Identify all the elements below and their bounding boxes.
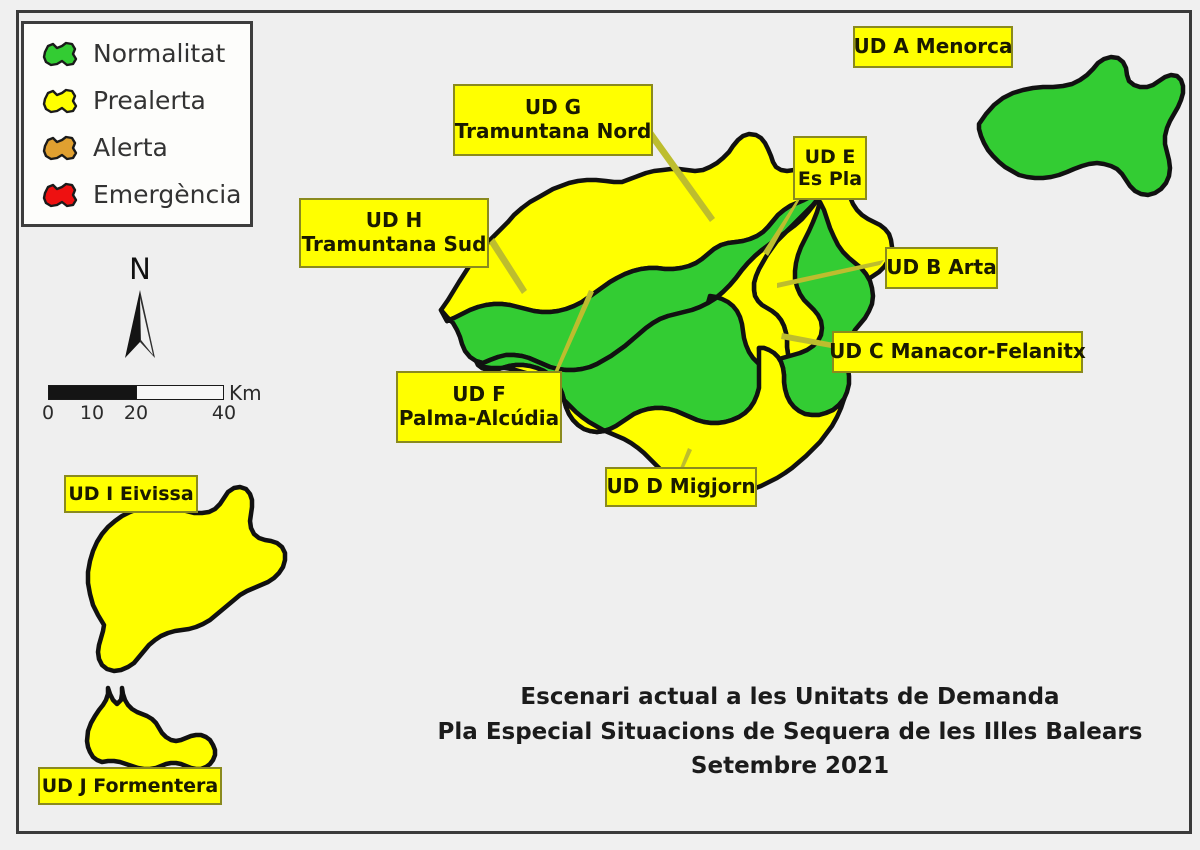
callout-ud-h-line1: UD H [366, 209, 423, 233]
north-arrow: N [95, 252, 185, 367]
polygon-swatch-icon [40, 41, 80, 67]
legend-panel: Normalitat Prealerta Alerta Emergència [21, 21, 253, 227]
callout-ud-b-line1: UD B Arta [886, 256, 996, 280]
polygon-swatch-icon [40, 135, 80, 161]
callout-ud-d-migjorn[interactable]: UD D Migjorn [605, 467, 757, 507]
callout-ud-c-manacor-felanitx[interactable]: UD C Manacor-Felanitx [832, 331, 1083, 373]
scale-tick-0: 0 [42, 402, 54, 424]
island-menorca [979, 57, 1183, 195]
callout-ud-e-line2: Es Pla [798, 168, 862, 190]
callout-ud-g-line2: Tramuntana Nord [455, 120, 652, 144]
legend-label-normalitat: Normalitat [93, 39, 225, 68]
callout-ud-f-line1: UD F [452, 383, 505, 407]
legend-label-prealerta: Prealerta [93, 86, 206, 115]
legend-item-prealerta: Prealerta [24, 77, 250, 124]
north-arrow-icon [95, 286, 185, 366]
title-block: Escenari actual a les Unitats de Demanda… [430, 680, 1150, 784]
scale-tick-10: 10 [80, 402, 104, 424]
callout-ud-a-menorca[interactable]: UD A Menorca [853, 26, 1013, 68]
region-ud-a-menorca [979, 57, 1183, 195]
callout-ud-b-arta[interactable]: UD B Arta [885, 247, 998, 289]
callout-ud-d-line1: UD D Migjorn [606, 475, 755, 499]
region-ud-j-formentera [87, 688, 215, 769]
legend-label-alerta: Alerta [93, 133, 168, 162]
scale-tick-20: 20 [124, 402, 148, 424]
scale-bar-ticks: 0 10 20 40 [48, 402, 224, 426]
callout-ud-a-line1: UD A Menorca [854, 35, 1013, 59]
island-formentera [87, 688, 215, 769]
scale-bar: Km 0 10 20 40 [48, 385, 263, 430]
island-eivissa [88, 487, 285, 671]
callout-ud-j-line1: UD J Formentera [42, 775, 219, 797]
title-line-1: Escenari actual a les Unitats de Demanda [430, 680, 1150, 715]
callout-ud-f-line2: Palma-Alcúdia [399, 407, 559, 431]
callout-ud-e-es-pla[interactable]: UD E Es Pla [793, 136, 867, 200]
region-ud-i-eivissa [88, 487, 285, 671]
scale-bar-segment-empty [136, 386, 223, 399]
callout-ud-i-line1: UD I Eivissa [68, 483, 193, 505]
callout-ud-g-line1: UD G [525, 96, 581, 120]
north-letter: N [95, 252, 185, 286]
scale-bar-track [48, 385, 224, 400]
callout-ud-f-palma-alcudia[interactable]: UD F Palma-Alcúdia [396, 371, 562, 443]
legend-item-alerta: Alerta [24, 124, 250, 171]
scale-tick-40: 40 [212, 402, 236, 424]
polygon-swatch-icon [40, 182, 80, 208]
callout-ud-i-eivissa[interactable]: UD I Eivissa [64, 475, 198, 513]
callout-ud-j-formentera[interactable]: UD J Formentera [38, 767, 222, 805]
scale-bar-segment-filled [49, 386, 136, 399]
map-poster: Normalitat Prealerta Alerta Emergència N [0, 0, 1200, 850]
title-line-3: Setembre 2021 [430, 749, 1150, 784]
legend-label-emergencia: Emergència [93, 180, 241, 209]
legend-item-normalitat: Normalitat [24, 30, 250, 77]
callout-ud-h-line2: Tramuntana Sud [302, 233, 487, 257]
callout-ud-g-tramuntana-nord[interactable]: UD G Tramuntana Nord [453, 84, 653, 156]
callout-ud-h-tramuntana-sud[interactable]: UD H Tramuntana Sud [299, 198, 489, 268]
legend-item-emergencia: Emergència [24, 171, 250, 218]
callout-ud-e-line1: UD E [805, 146, 856, 168]
callout-ud-c-line1: UD C Manacor-Felanitx [829, 340, 1086, 364]
title-line-2: Pla Especial Situacions de Sequera de le… [430, 715, 1150, 750]
polygon-swatch-icon [40, 88, 80, 114]
